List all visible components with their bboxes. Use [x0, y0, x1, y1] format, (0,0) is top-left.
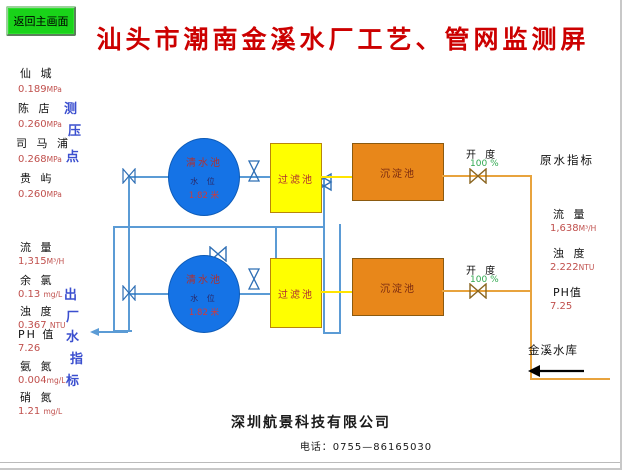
effluent-side-label-0: 出: [64, 284, 77, 303]
pipe-filter1-to-settler: [320, 176, 352, 178]
tank-2-level-value: 1.82 米: [189, 306, 219, 318]
pressure-side-label-2: 点: [66, 146, 79, 165]
effluent-side-label-2: 水: [66, 326, 79, 345]
valve-icon-blue-3[interactable]: [248, 160, 260, 182]
settling-basin-1[interactable]: 沉淀池: [352, 143, 444, 201]
pressure-point-name-2: 司 马 浦: [16, 135, 71, 151]
effluent-side-label-1: 厂: [66, 306, 79, 325]
page-title: 汕头市潮南金溪水厂工艺、管网监测屏: [78, 20, 608, 56]
raw-water-heading: 原水指标: [540, 152, 594, 168]
valve-icon-blue-6[interactable]: [122, 285, 136, 301]
footer-divider: [0, 462, 620, 463]
outlet-arrow-icon: [90, 325, 130, 339]
tank-1-level-value: 1.82 米: [189, 189, 219, 201]
tank-1-level-label: 水 位: [190, 176, 218, 187]
valve-icon-raw-1[interactable]: [468, 168, 488, 184]
settling-basin-2[interactable]: 沉淀池: [352, 258, 444, 316]
pipe-left-riser: [128, 176, 130, 332]
pipe-cross-down: [113, 226, 115, 330]
effluent-metric-value-4: 0.004mg/L: [18, 375, 65, 386]
effluent-side-label-3: 指: [70, 348, 83, 367]
effluent-metric-name-4: 氨 氮: [20, 358, 55, 374]
effluent-metric-value-1: 0.13 mg/L: [18, 289, 62, 300]
effluent-metric-name-5: 硝 氮: [20, 389, 55, 405]
effluent-metric-name-1: 余 氯: [20, 272, 55, 288]
tank-2-name: 清水池: [186, 271, 222, 286]
pipe-cross-left: [113, 226, 275, 228]
tank-2-level-label: 水 位: [190, 293, 218, 304]
raw-metric-value-2: 7.25: [550, 301, 572, 312]
company-phone: 电话：0755—86165030: [0, 438, 622, 453]
raw-metric-name-2: PH值: [553, 284, 582, 300]
pressure-point-name-3: 贵 屿: [20, 170, 55, 186]
pressure-point-value-0: 0.189MPa: [18, 84, 62, 95]
tank-1-name: 清水池: [186, 154, 222, 169]
clear-water-tank-1[interactable]: 清水池 水 位 1.82 米: [168, 138, 240, 216]
pressure-side-label-1: 压: [68, 120, 81, 139]
back-to-main-button[interactable]: 返回主画面: [6, 6, 76, 36]
pipe-cross-upper: [275, 226, 325, 228]
effluent-metric-value-0: 1,315M³/H: [18, 256, 64, 267]
pressure-point-name-1: 陈 店: [18, 100, 53, 116]
monitoring-screen: 返回主画面 汕头市潮南金溪水厂工艺、管网监测屏 仙 城 0.189MPa 陈 店…: [0, 0, 622, 470]
raw-metric-value-1: 2.222NTU: [550, 262, 594, 273]
raw-metric-name-0: 流 量: [553, 206, 588, 222]
valve-icon-blue-5[interactable]: [122, 168, 136, 184]
valve-2-open-value: 100 %: [470, 275, 499, 285]
filter-basin-2[interactable]: 过滤池: [270, 258, 322, 328]
reservoir-label: 金溪水库: [528, 342, 578, 358]
effluent-metric-name-3: PH 值: [18, 326, 55, 342]
valve-icon-blue-4[interactable]: [248, 268, 260, 290]
raw-metric-value-0: 1,638M³/H: [550, 223, 596, 234]
pipe-raw-header: [530, 378, 610, 380]
raw-metric-name-1: 浊 度: [553, 245, 588, 261]
pressure-side-label-0: 测: [64, 98, 77, 117]
effluent-metric-value-3: 7.26: [18, 343, 40, 354]
pressure-point-value-1: 0.260MPa: [18, 119, 62, 130]
valve-icon-raw-2[interactable]: [468, 283, 488, 299]
filter-basin-1[interactable]: 过滤池: [270, 143, 322, 213]
pipe-filter2-to-settler: [320, 291, 352, 293]
valve-1-open-value: 100 %: [470, 159, 499, 169]
pipe-joint: [339, 224, 341, 226]
effluent-metric-name-0: 流 量: [20, 239, 55, 255]
pipe-cross-to-outlet: [113, 330, 131, 332]
pipe-filter-vert: [339, 224, 341, 334]
pipe-filter2-leg: [323, 270, 325, 334]
pipe-tank2-outlet: [235, 293, 275, 295]
effluent-side-label-4: 标: [66, 370, 79, 389]
company-name: 深圳航景科技有限公司: [0, 412, 622, 432]
pressure-point-name-0: 仙 城: [20, 65, 55, 81]
pressure-point-value-2: 0.268MPa: [18, 154, 62, 165]
reservoir-flow-arrow-icon: [528, 364, 586, 378]
effluent-metric-name-2: 浊 度: [20, 303, 55, 319]
pressure-point-value-3: 0.260MPa: [18, 189, 62, 200]
clear-water-tank-2[interactable]: 清水池 水 位 1.82 米: [168, 255, 240, 333]
